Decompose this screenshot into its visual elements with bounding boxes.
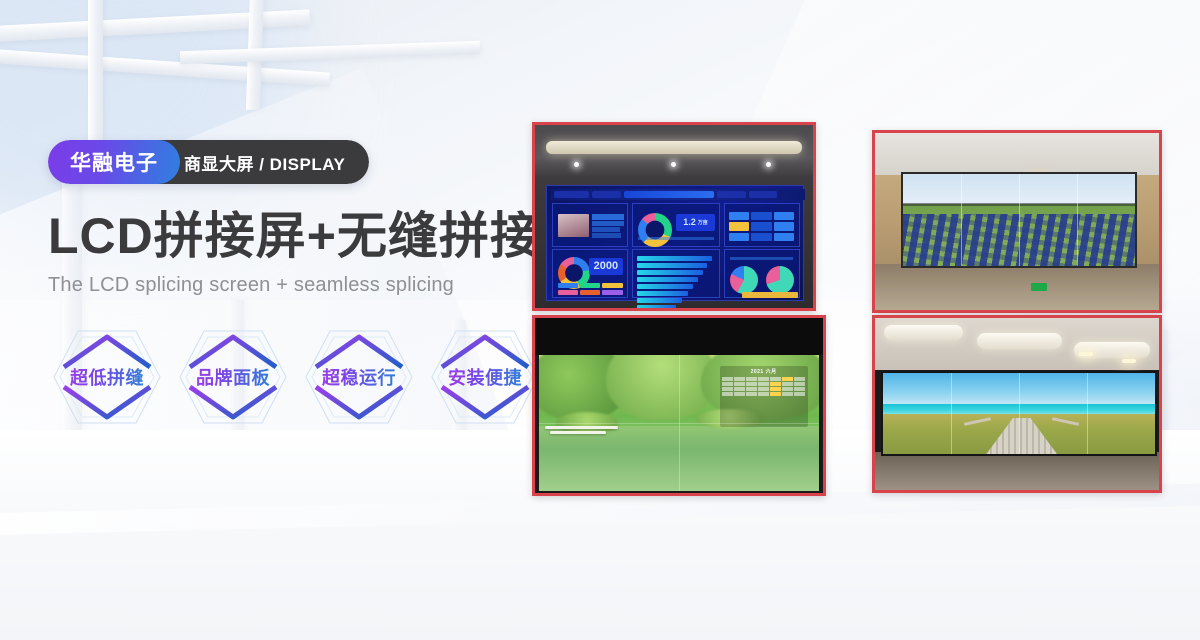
dashboard-header-bar — [551, 189, 805, 200]
legend-swatch — [580, 290, 600, 295]
dashboard-status-strip — [742, 292, 798, 298]
dashboard-photo: 1.2 万亩 — [535, 125, 813, 308]
calendar-cell-highlight — [782, 377, 793, 381]
feature-badge-1: 超低拼缝 — [48, 323, 166, 431]
beach-photo — [875, 318, 1159, 490]
feature-badge-list: 超低拼缝 品牌面板 超稳运行 — [48, 323, 548, 431]
ceiling-coffer — [977, 333, 1062, 348]
gallery-card-solar[interactable] — [872, 130, 1162, 313]
flow-node — [774, 233, 794, 241]
bezel-seam — [1087, 373, 1088, 454]
calendar-cell — [722, 377, 733, 381]
calendar-cell — [734, 392, 745, 396]
screen-top-bezel — [535, 318, 823, 355]
banner-content: 华融电子 商显大屏 / DISPLAY LCD拼接屏+无缝拼接 The LCD … — [48, 140, 548, 431]
bar-row — [637, 284, 693, 289]
ceiling-coffer — [884, 325, 964, 340]
calendar-cell — [782, 387, 793, 391]
calendar-cell — [758, 392, 769, 396]
flow-diagram — [729, 212, 794, 241]
video-wall-screen — [881, 371, 1158, 456]
flow-node — [774, 212, 794, 220]
calendar-cell-highlight — [770, 382, 781, 386]
dashboard-title-tab — [624, 191, 713, 198]
pie-chart — [730, 266, 758, 294]
flow-node — [729, 222, 749, 230]
kpi-value-primary: 1.2 万亩 — [676, 214, 715, 232]
dashboard-tab — [749, 191, 776, 198]
calendar-cell — [794, 382, 805, 386]
legend-swatch — [602, 290, 622, 295]
calendar-overlay: 2021 六月 — [720, 366, 808, 427]
calendar-cell-highlight — [770, 392, 781, 396]
calendar-cell — [722, 387, 733, 391]
page-subtitle: The LCD splicing screen + seamless splic… — [48, 274, 548, 297]
calendar-cell — [758, 387, 769, 391]
dashboard-panel-intro — [552, 203, 628, 247]
calendar-cell — [758, 382, 769, 386]
feature-badge-label: 超稳运行 — [322, 364, 396, 390]
solar-photo — [875, 133, 1159, 310]
gallery-card-beach[interactable] — [872, 315, 1162, 493]
bar-row — [637, 270, 703, 275]
bezel-seam — [1019, 373, 1020, 454]
ceiling-spotlight — [766, 162, 771, 167]
legend-swatch — [602, 283, 622, 288]
ceiling-spotlight — [574, 162, 579, 167]
bezel-seam — [1077, 174, 1078, 266]
kpi-unit: 万亩 — [698, 219, 708, 226]
video-wall-screen — [901, 172, 1138, 268]
calendar-cell — [782, 382, 793, 386]
legend-swatch — [558, 290, 578, 295]
brand-badge: 华融电子 商显大屏 / DISPLAY — [48, 140, 369, 184]
railing — [545, 426, 618, 429]
calendar-cell — [746, 382, 757, 386]
category-pill: 商显大屏 / DISPLAY — [154, 140, 369, 184]
dashboard-panel-pies — [724, 249, 800, 299]
dashboard-tab — [592, 191, 622, 198]
calendar-cell — [794, 392, 805, 396]
flow-node — [729, 233, 749, 241]
gallery-card-dashboard[interactable]: 1.2 万亩 — [532, 122, 816, 311]
calendar-grid — [722, 377, 806, 396]
dashboard-panel-flow — [724, 203, 800, 247]
kpi-number: 1.2 — [683, 217, 696, 227]
calendar-cell — [770, 377, 781, 381]
feature-badge-label: 品牌面板 — [196, 364, 270, 390]
product-banner: 华融电子 商显大屏 / DISPLAY LCD拼接屏+无缝拼接 The LCD … — [0, 0, 1200, 640]
bezel-seam — [1019, 174, 1020, 266]
bar-row — [637, 263, 707, 268]
bezel-seam — [539, 423, 818, 424]
feature-badge-4: 安装便捷 — [426, 323, 544, 431]
legend-swatch — [558, 283, 578, 288]
dashboard-tab — [554, 191, 589, 198]
calendar-cell-highlight — [770, 387, 781, 391]
ceiling-spotlight — [671, 162, 676, 167]
pond-scene: 2021 六月 — [539, 355, 818, 492]
dashboard-panel-gauge: 2000 — [552, 249, 628, 299]
calendar-cell — [734, 377, 745, 381]
gallery-card-pond[interactable]: 2021 六月 — [532, 315, 826, 496]
calendar-cell — [722, 382, 733, 386]
bezel-seam — [951, 373, 952, 454]
product-gallery: 1.2 万亩 — [532, 122, 1156, 490]
dashboard-screen: 1.2 万亩 — [546, 185, 804, 300]
bezel-seam — [961, 174, 962, 266]
bar-row — [637, 305, 676, 310]
ceiling-lamp — [1079, 352, 1093, 356]
legend-swatch — [580, 283, 600, 288]
ceiling-light-strip — [546, 141, 802, 154]
dashboard-panel-ranking — [632, 249, 721, 299]
flow-node — [751, 222, 771, 230]
railing — [550, 431, 606, 434]
calendar-cell — [722, 392, 733, 396]
bar-row — [637, 298, 682, 303]
feature-badge-2: 品牌面板 — [174, 323, 292, 431]
ceiling-lamp — [1122, 359, 1136, 363]
ceiling — [875, 133, 1159, 175]
flow-node — [729, 212, 749, 220]
legend-swatches — [558, 283, 623, 294]
bar-row — [637, 277, 698, 282]
dashboard-panel-kpi: 1.2 万亩 — [632, 203, 721, 247]
flow-node — [751, 233, 771, 241]
calendar-cell — [794, 387, 805, 391]
feature-badge-3: 超稳运行 — [300, 323, 418, 431]
calendar-cell — [782, 392, 793, 396]
bar-row — [637, 291, 689, 296]
pond-photo: 2021 六月 — [535, 318, 823, 493]
exit-sign-icon — [1031, 283, 1047, 291]
feature-badge-label: 超低拼缝 — [70, 364, 144, 390]
flow-node — [774, 222, 794, 230]
page-title: LCD拼接屏+无缝拼接 — [48, 210, 548, 262]
bar-list — [637, 256, 715, 310]
kpi-value-secondary: 2000 — [589, 258, 623, 274]
calendar-cell — [734, 387, 745, 391]
calendar-title: 2021 六月 — [722, 368, 806, 375]
pie-chart — [766, 266, 794, 294]
floor — [875, 452, 1159, 490]
feature-badge-label: 安装便捷 — [448, 364, 522, 390]
calendar-cell — [746, 387, 757, 391]
calendar-cell — [794, 377, 805, 381]
floor — [875, 264, 1159, 310]
calendar-cell — [746, 392, 757, 396]
calendar-cell — [758, 377, 769, 381]
calendar-cell — [746, 377, 757, 381]
brand-name-pill: 华融电子 — [48, 140, 180, 184]
dashboard-tab — [717, 191, 747, 198]
flow-node — [751, 212, 771, 220]
calendar-cell — [734, 382, 745, 386]
ceiling-beam-vertical-1 — [88, 0, 103, 140]
bar-row — [637, 256, 712, 261]
